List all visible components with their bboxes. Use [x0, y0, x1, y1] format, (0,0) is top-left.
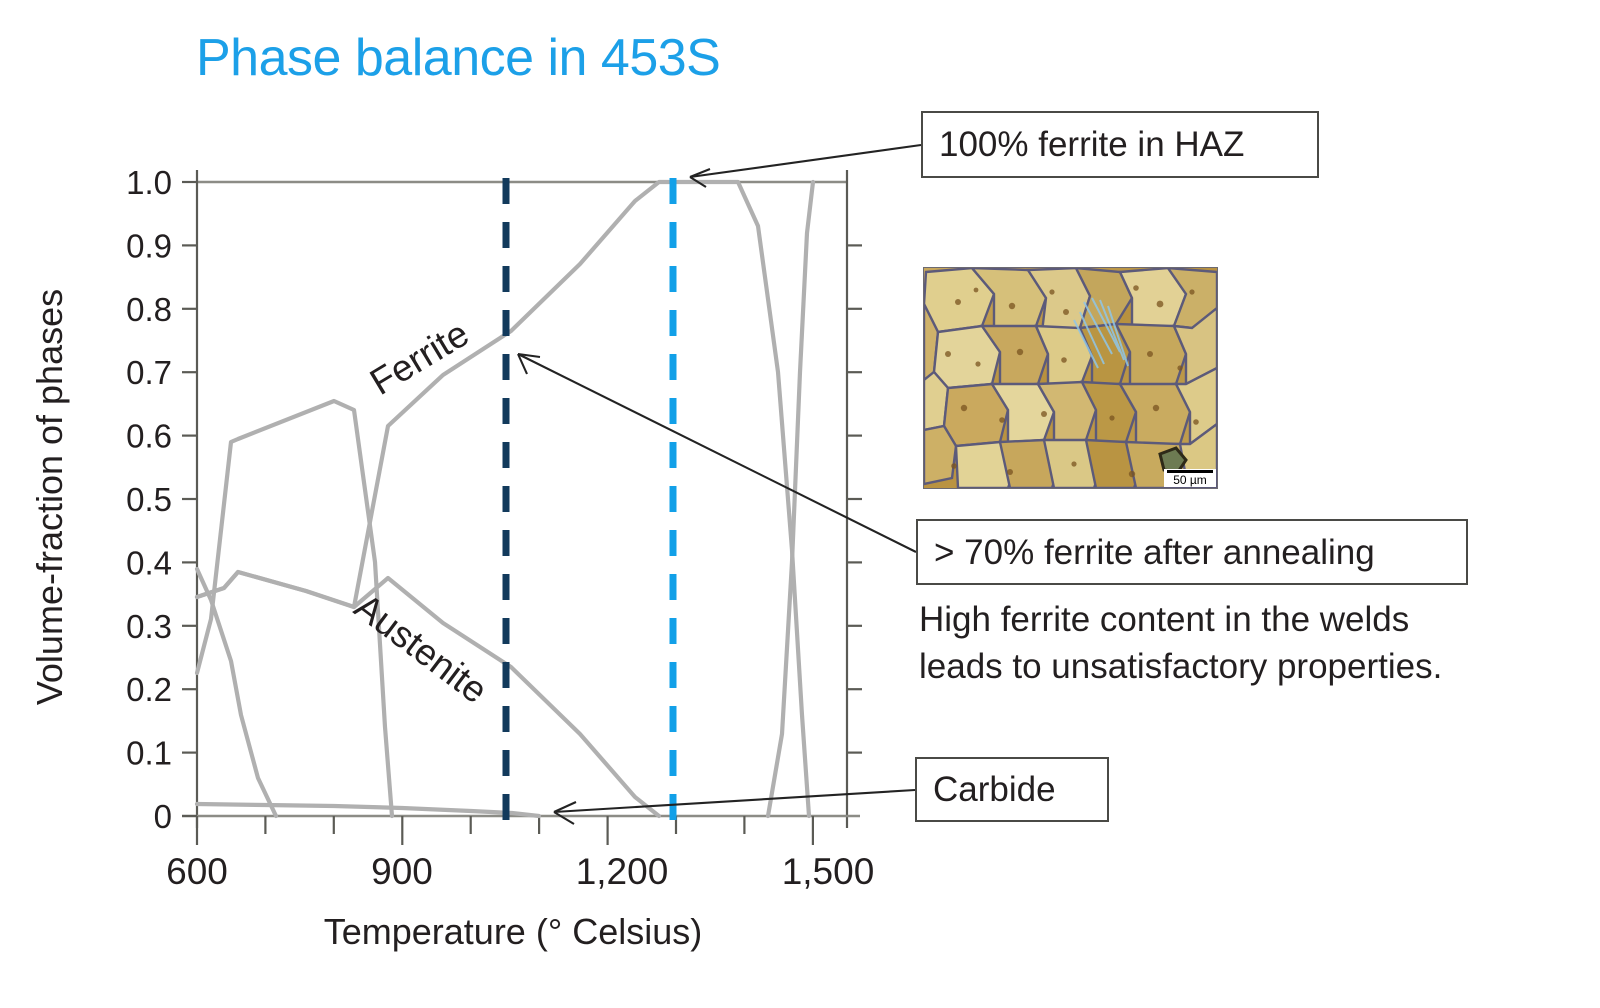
curve-carbide [197, 804, 539, 816]
y-tick-label: 0.2 [126, 671, 172, 708]
callout-haz-text: 100% ferrite in HAZ [939, 127, 1244, 162]
y-tick-label: 0.1 [126, 735, 172, 772]
leader-ferrite-anneal [518, 354, 916, 552]
y-tick-label: 0.7 [126, 354, 172, 391]
y-tick-labels: 1.0 0.9 0.8 0.7 0.6 0.5 0.4 0.3 0.2 0.1 … [126, 164, 172, 835]
y-tick-label: 0.8 [126, 291, 172, 328]
callout-ferrite-annealing-text: > 70% ferrite after annealing [934, 535, 1375, 570]
summary-note-line2: leads to unsatisfactory properties. [919, 644, 1559, 691]
x-tick-label: 900 [371, 851, 433, 892]
y-tick-label: 0.6 [126, 418, 172, 455]
x-tick-labels: 600 900 1,200 1,500 [166, 851, 874, 892]
micrograph-image: 50 µm [923, 267, 1218, 489]
curve-liquid [768, 182, 813, 816]
y-axis-title: Volume-fraction of phases [29, 289, 70, 705]
curve-austenite-main [197, 572, 659, 816]
y-tick-label: 0.5 [126, 481, 172, 518]
x-axis-title: Temperature (° Celsius) [324, 911, 703, 952]
callout-haz: 100% ferrite in HAZ [921, 111, 1319, 178]
slide-canvas: Phase balance in 453S [0, 0, 1600, 1008]
callout-carbide-text: Carbide [933, 772, 1056, 807]
y-tick-label: 0.4 [126, 544, 172, 581]
x-tick-label: 1,500 [782, 851, 875, 892]
x-tick-label: 600 [166, 851, 228, 892]
y-axis-ticks [182, 182, 197, 816]
y-tick-label: 1.0 [126, 164, 172, 201]
x-tick-label: 1,200 [576, 851, 669, 892]
callout-carbide: Carbide [915, 757, 1109, 822]
micrograph-grain-structure [924, 268, 1217, 488]
scalebar-label: 50 µm [1173, 474, 1207, 486]
y-tick-label: 0.3 [126, 608, 172, 645]
phase-balance-chart: 1.0 0.9 0.8 0.7 0.6 0.5 0.4 0.3 0.2 0.1 … [0, 0, 1600, 1008]
summary-note-line1: High ferrite content in the welds [919, 597, 1559, 644]
micrograph-scalebar: 50 µm [1164, 469, 1216, 487]
y-tick-label: 0 [154, 798, 172, 835]
summary-note: High ferrite content in the welds leads … [919, 597, 1559, 690]
right-axis-ticks [847, 245, 862, 752]
callout-ferrite-annealing: > 70% ferrite after annealing [916, 519, 1468, 585]
curve-label-ferrite: Ferrite [363, 313, 476, 403]
curve-austenite-lowt [197, 569, 276, 816]
x-axis-ticks [197, 816, 813, 845]
y-tick-label: 0.9 [126, 227, 172, 264]
